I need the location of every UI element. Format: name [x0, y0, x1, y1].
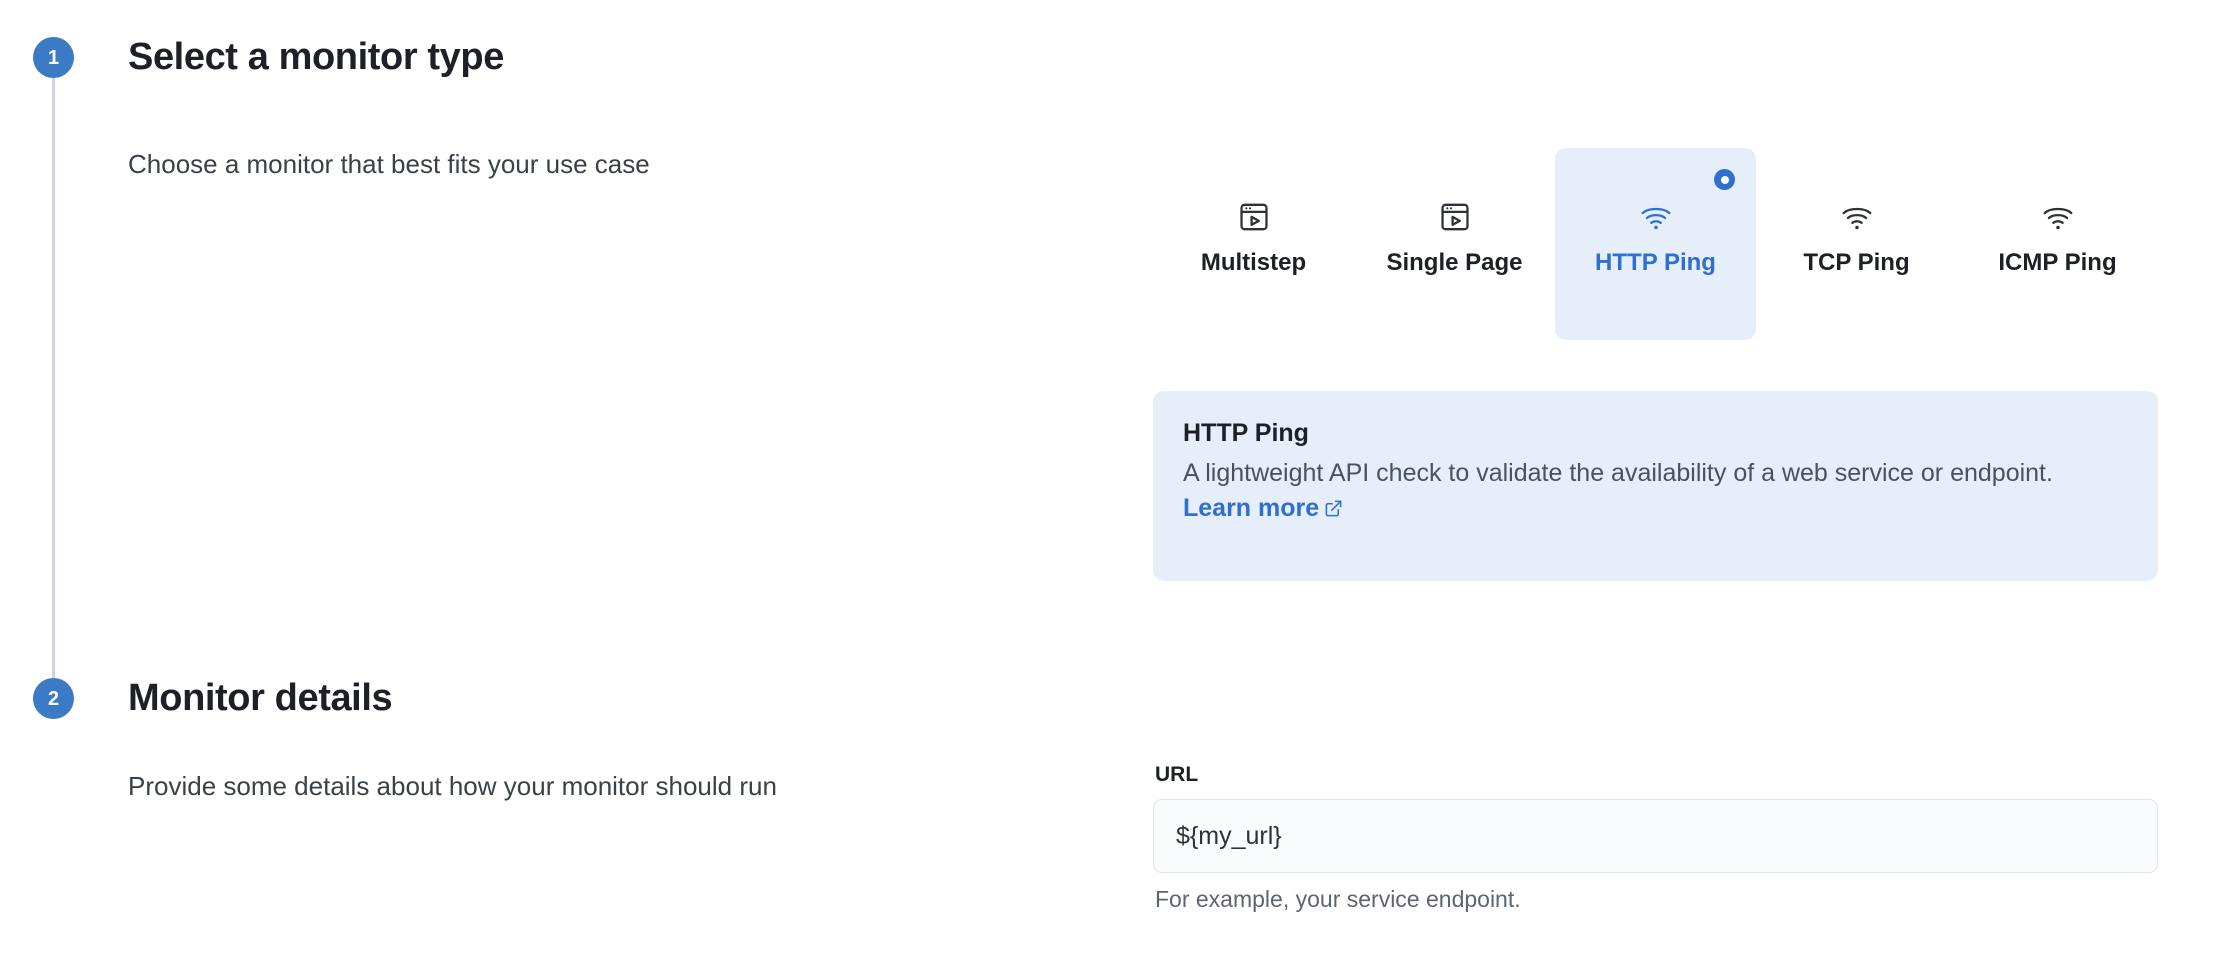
monitor-type-option-icmp-ping[interactable]: ICMP Ping	[1957, 148, 2158, 340]
browser-play-icon	[1237, 200, 1271, 234]
callout-title: HTTP Ping	[1183, 417, 2128, 450]
monitor-type-label: HTTP Ping	[1595, 250, 1716, 276]
monitor-type-label: TCP Ping	[1803, 250, 1909, 276]
step-badge-1: 1	[33, 37, 74, 78]
step-1-title: Select a monitor type	[128, 37, 504, 79]
step-badge-2: 2	[33, 678, 74, 719]
monitor-type-selector: Multistep Single Page HTTP Ping	[1153, 148, 2158, 340]
monitor-type-label: Multistep	[1201, 250, 1306, 276]
external-link-icon[interactable]	[1324, 499, 1343, 518]
url-field-label: URL	[1155, 762, 2158, 787]
callout-body: A lightweight API check to validate the …	[1183, 456, 2113, 527]
wifi-icon	[1840, 200, 1874, 234]
learn-more-link[interactable]: Learn more	[1183, 494, 1319, 522]
monitor-type-option-tcp-ping[interactable]: TCP Ping	[1756, 148, 1957, 340]
url-input[interactable]	[1153, 799, 2158, 873]
monitor-type-info-callout: HTTP Ping A lightweight API check to val…	[1153, 391, 2158, 581]
url-field-group: URL For example, your service endpoint.	[1153, 762, 2158, 914]
browser-play-icon	[1438, 200, 1472, 234]
monitor-type-option-single-page[interactable]: Single Page	[1354, 148, 1555, 340]
monitor-type-label: ICMP Ping	[1998, 250, 2116, 276]
wifi-icon	[1639, 200, 1673, 234]
callout-body-text: A lightweight API check to validate the …	[1183, 459, 2053, 487]
step-2-description: Provide some details about how your moni…	[128, 770, 777, 804]
step-1-description: Choose a monitor that best fits your use…	[128, 148, 650, 182]
stepper-connector-line	[52, 70, 55, 690]
wifi-icon	[2041, 200, 2075, 234]
monitor-type-option-multistep[interactable]: Multistep	[1153, 148, 1354, 340]
radio-selected-icon[interactable]	[1714, 169, 1735, 190]
url-field-help-text: For example, your service endpoint.	[1155, 886, 2158, 914]
monitor-type-label: Single Page	[1386, 250, 1522, 276]
step-2-title: Monitor details	[128, 678, 392, 720]
monitor-type-option-http-ping[interactable]: HTTP Ping	[1555, 148, 1756, 340]
